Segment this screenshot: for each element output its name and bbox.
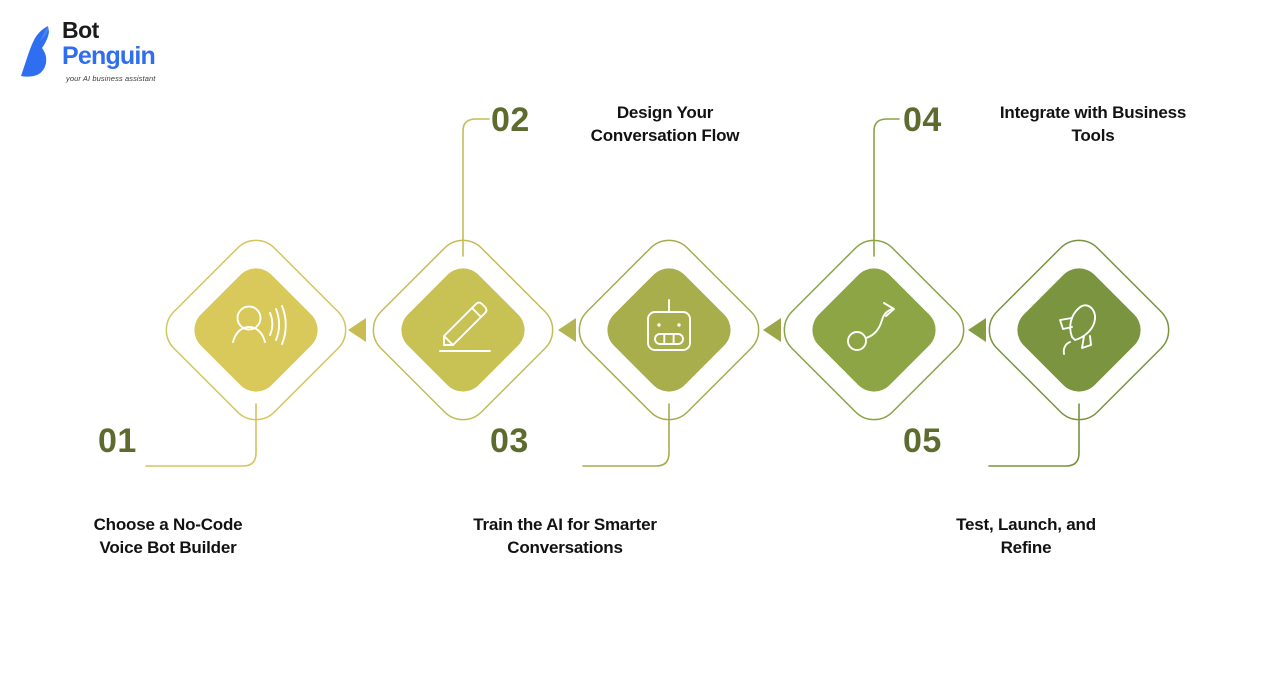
step-title-03-line2: Conversations [425, 536, 705, 559]
connector-step-03 [583, 404, 669, 466]
step-node-03[interactable] [569, 230, 770, 431]
node-fill-05 [1008, 259, 1149, 400]
flow-arrow-02-03 [558, 318, 576, 342]
connector-step-02 [463, 119, 489, 256]
connector-step-04 [874, 119, 899, 256]
step-title-02-line1: Design Your [535, 101, 795, 124]
flow-arrow-01-02 [348, 318, 366, 342]
step-title-02: Design Your Conversation Flow [535, 101, 795, 147]
step-number-04: 04 [903, 103, 942, 137]
step-title-04-line2: Tools [953, 124, 1233, 147]
step-number-03: 03 [490, 424, 529, 458]
step-title-05-line1: Test, Launch, and [896, 513, 1156, 536]
step-node-05[interactable] [979, 230, 1180, 431]
node-fill-03 [598, 259, 739, 400]
step-title-05-line2: Refine [896, 536, 1156, 559]
step-node-04[interactable] [774, 230, 975, 431]
node-fill-01 [185, 259, 326, 400]
step-title-01-line1: Choose a No-Code [38, 513, 298, 536]
step-node-02[interactable] [363, 230, 564, 431]
step-title-03-line1: Train the AI for Smarter [425, 513, 705, 536]
node-fill-02 [392, 259, 533, 400]
step-title-04-line1: Integrate with Business [953, 101, 1233, 124]
node-fill-04 [803, 259, 944, 400]
step-number-01: 01 [98, 424, 137, 458]
step-title-01: Choose a No-Code Voice Bot Builder [38, 513, 298, 559]
connector-step-05 [989, 404, 1079, 466]
step-title-05: Test, Launch, and Refine [896, 513, 1156, 559]
flow-arrow-04-05 [968, 318, 986, 342]
step-number-05: 05 [903, 424, 942, 458]
step-number-02: 02 [491, 103, 530, 137]
step-title-02-line2: Conversation Flow [535, 124, 795, 147]
flow-arrow-03-04 [763, 318, 781, 342]
step-title-03: Train the AI for Smarter Conversations [425, 513, 705, 559]
step-title-01-line2: Voice Bot Builder [38, 536, 298, 559]
step-title-04: Integrate with Business Tools [953, 101, 1233, 147]
